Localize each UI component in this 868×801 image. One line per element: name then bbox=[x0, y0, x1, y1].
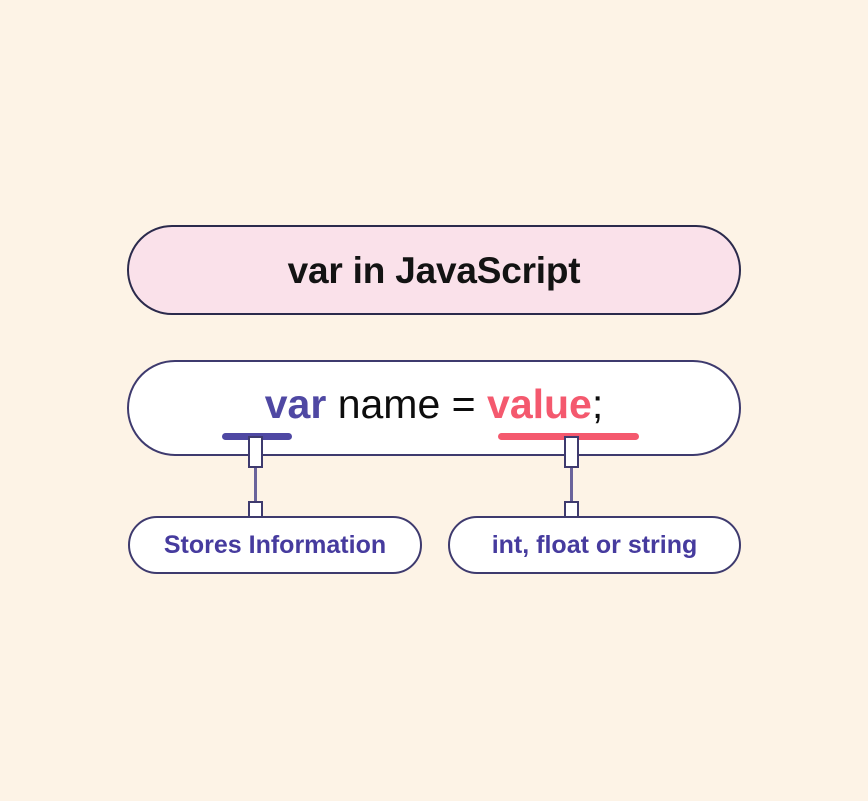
code-token-value: value bbox=[487, 381, 592, 427]
annotation-pill-value-types: int, float or string bbox=[448, 516, 741, 574]
code-statement: var name = value; bbox=[265, 384, 604, 425]
annotation-pill-stores-information: Stores Information bbox=[128, 516, 422, 574]
connector-cap-top bbox=[248, 436, 263, 468]
code-token-space1 bbox=[326, 381, 337, 427]
code-token-space3 bbox=[476, 381, 487, 427]
connector-cap-top bbox=[564, 436, 579, 468]
connector-keyword bbox=[248, 446, 263, 526]
annotation-label: int, float or string bbox=[492, 533, 698, 558]
annotation-label: Stores Information bbox=[164, 533, 386, 558]
page-title: var in JavaScript bbox=[288, 252, 581, 289]
code-token-identifier: name bbox=[338, 381, 441, 427]
code-token-space2 bbox=[440, 381, 451, 427]
code-token-terminator: ; bbox=[592, 381, 603, 427]
code-token-keyword: var bbox=[265, 381, 327, 427]
code-syntax-pill: var name = value; bbox=[127, 360, 741, 456]
title-pill: var in JavaScript bbox=[127, 225, 741, 315]
code-token-operator: = bbox=[452, 381, 476, 427]
diagram-canvas: var in JavaScript var name = value; Stor… bbox=[0, 0, 868, 801]
connector-value bbox=[564, 446, 579, 526]
